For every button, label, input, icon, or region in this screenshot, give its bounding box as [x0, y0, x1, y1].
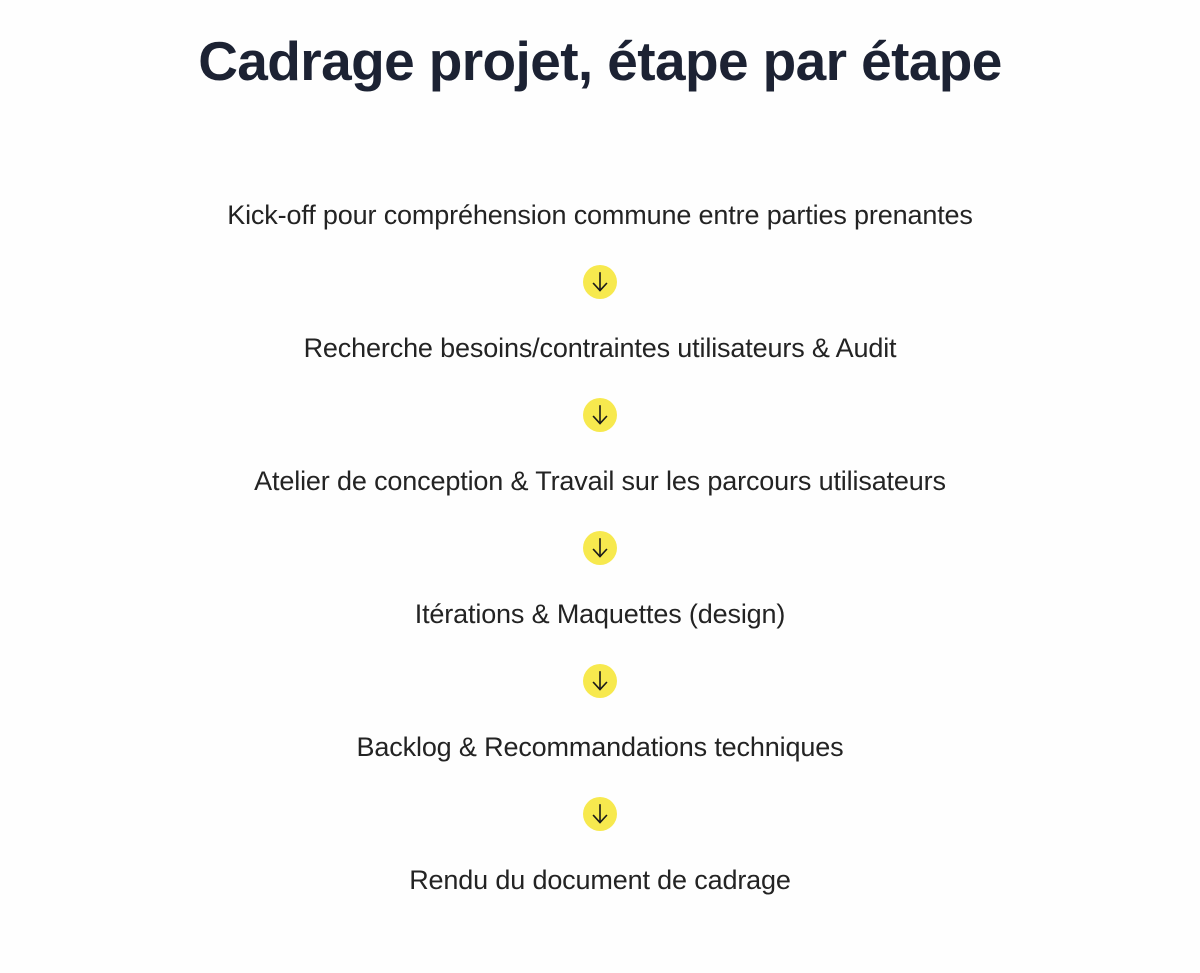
page-title: Cadrage projet, étape par étape [0, 31, 1200, 93]
flow-step-1: Kick-off pour compréhension commune entr… [0, 186, 1200, 244]
arrow-down-icon [583, 797, 617, 831]
flow-step-label: Recherche besoins/contraintes utilisateu… [304, 332, 897, 364]
flow-step-5: Backlog & Recommandations techniques [0, 718, 1200, 776]
flow-connector-3 [0, 510, 1200, 585]
flow-step-label: Backlog & Recommandations techniques [357, 731, 844, 763]
process-flow-diagram: Kick-off pour compréhension commune entr… [0, 186, 1200, 909]
flow-connector-5 [0, 776, 1200, 851]
arrow-down-icon [583, 664, 617, 698]
flow-connector-4 [0, 643, 1200, 718]
arrow-down-icon [583, 531, 617, 565]
flow-step-label: Kick-off pour compréhension commune entr… [227, 199, 973, 231]
flow-step-label: Rendu du document de cadrage [409, 864, 791, 896]
flow-step-3: Atelier de conception & Travail sur les … [0, 452, 1200, 510]
arrow-down-icon [583, 265, 617, 299]
slide-canvas: Cadrage projet, étape par étape Kick-off… [0, 0, 1200, 973]
arrow-down-icon [583, 398, 617, 432]
flow-step-label: Atelier de conception & Travail sur les … [254, 465, 946, 497]
flow-step-6: Rendu du document de cadrage [0, 851, 1200, 909]
flow-connector-1 [0, 244, 1200, 319]
flow-step-2: Recherche besoins/contraintes utilisateu… [0, 319, 1200, 377]
flow-step-4: Itérations & Maquettes (design) [0, 585, 1200, 643]
flow-step-label: Itérations & Maquettes (design) [415, 598, 786, 630]
flow-connector-2 [0, 377, 1200, 452]
